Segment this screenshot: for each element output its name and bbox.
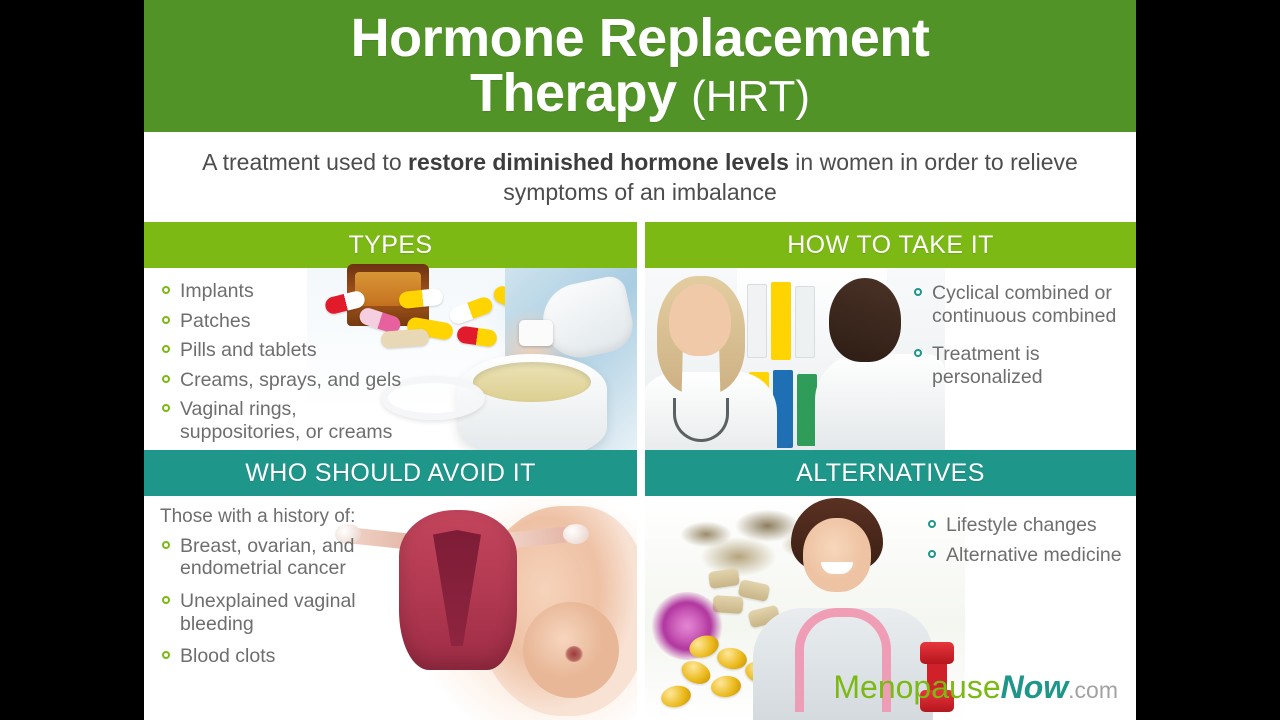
list-item-label: Alternative medicine bbox=[946, 544, 1122, 566]
infographic-content: Hormone Replacement Therapy (HRT) A trea… bbox=[144, 0, 1136, 720]
bullet-ring-icon bbox=[162, 651, 170, 659]
doctor-face-shape bbox=[669, 284, 731, 356]
list-item: Patches bbox=[160, 310, 410, 333]
list-item: Blood clots bbox=[160, 645, 422, 668]
list-item: Lifestyle changes bbox=[926, 514, 1126, 537]
ovary-shape bbox=[563, 524, 589, 544]
site-logo[interactable]: MenopauseNow.com bbox=[833, 669, 1118, 706]
panel-body-how-to-take-it: Cyclical combined or continuous combined… bbox=[645, 268, 1136, 450]
list-how-to-take-it: Cyclical combined or continuous combined… bbox=[912, 282, 1122, 395]
list-item-label: Implants bbox=[180, 280, 254, 302]
list-item: Creams, sprays, and gels bbox=[160, 369, 410, 392]
list-alternatives: Lifestyle changes Alternative medicine bbox=[926, 514, 1126, 573]
list-item: Cyclical combined or continuous combined bbox=[912, 282, 1122, 327]
smile-shape bbox=[821, 562, 853, 574]
title-abbreviation: (HRT) bbox=[691, 72, 810, 121]
panel-heading-how-to-take-it: HOW TO TAKE IT bbox=[645, 222, 1136, 268]
bullet-ring-icon bbox=[162, 596, 170, 604]
fish-oil-capsule-icon bbox=[686, 632, 721, 661]
bullet-ring-icon bbox=[914, 288, 922, 296]
gloved-hand-shape bbox=[536, 274, 637, 365]
list-item-label: Cyclical combined or continuous combined bbox=[932, 282, 1116, 327]
panel-how-to-take-it: HOW TO TAKE IT bbox=[645, 222, 1136, 450]
fish-oil-capsule-icon bbox=[678, 657, 714, 688]
woman-face-shape bbox=[803, 518, 871, 592]
subtitle-emphasis: restore diminished hormone levels bbox=[408, 149, 789, 175]
panel-body-types: Implants Patches Pills and tablets Cream… bbox=[144, 268, 637, 450]
bullet-ring-icon bbox=[928, 520, 936, 528]
breast-shape bbox=[523, 602, 619, 698]
logo-tld: .com bbox=[1068, 677, 1118, 703]
screenshot-stage: Hormone Replacement Therapy (HRT) A trea… bbox=[0, 0, 1280, 720]
panel-types: TYPES bbox=[144, 222, 637, 450]
capsule-icon bbox=[456, 325, 498, 347]
logo-word-menopause: Menopause bbox=[833, 669, 1000, 705]
binder-icon bbox=[747, 284, 767, 358]
page-title: Hormone Replacement Therapy (HRT) bbox=[333, 11, 948, 121]
office-shelf-shape bbox=[737, 268, 887, 450]
list-item: Breast, ovarian, and endometrial cancer bbox=[160, 535, 422, 580]
uterine-cavity-shape bbox=[433, 530, 481, 646]
photo-backdrop bbox=[645, 268, 945, 450]
capsule-icon bbox=[491, 283, 529, 313]
fish-oil-capsule-icon bbox=[715, 646, 748, 672]
list-item: Vaginal rings, suppositories, or creams bbox=[160, 398, 410, 443]
herbal-tablet-icon bbox=[708, 568, 740, 589]
fish-oil-capsule-icon bbox=[659, 683, 693, 710]
fish-oil-capsule-icon bbox=[710, 674, 742, 698]
bullet-ring-icon bbox=[162, 345, 170, 353]
list-item-label: Patches bbox=[180, 310, 250, 332]
title-line-1: Hormone Replacement bbox=[351, 8, 930, 68]
binder-icon bbox=[773, 370, 793, 448]
panel-grid: TYPES bbox=[144, 222, 1136, 720]
bullet-ring-icon bbox=[162, 316, 170, 324]
list-item-label: Treatment is personalized bbox=[932, 343, 1043, 388]
bullet-ring-icon bbox=[162, 541, 170, 549]
list-item-label: Creams, sprays, and gels bbox=[180, 369, 401, 391]
logo-word-now: Now bbox=[1001, 669, 1069, 705]
herbal-tablet-icon bbox=[747, 605, 780, 629]
stethoscope-icon bbox=[673, 398, 729, 442]
blonde-hair-shape bbox=[657, 276, 745, 394]
bullet-ring-icon bbox=[162, 375, 170, 383]
panel-heading-types: TYPES bbox=[144, 222, 637, 268]
lesion-marker-icon bbox=[565, 646, 583, 662]
panel-heading-alternatives: ALTERNATIVES bbox=[645, 450, 1136, 496]
list-item-label: Lifestyle changes bbox=[946, 514, 1097, 536]
bullet-ring-icon bbox=[162, 404, 170, 412]
woman-hair-shape bbox=[791, 498, 883, 570]
list-item-label: Pills and tablets bbox=[180, 339, 317, 361]
list-item-label: Breast, ovarian, and endometrial cancer bbox=[180, 535, 355, 580]
list-item: Unexplained vaginal bleeding bbox=[160, 590, 422, 635]
herbal-tablet-icon bbox=[712, 595, 743, 614]
binder-icon bbox=[795, 286, 815, 358]
title-line-2: Therapy bbox=[470, 63, 677, 123]
title-band: Hormone Replacement Therapy (HRT) bbox=[144, 0, 1136, 132]
list-item: Treatment is personalized bbox=[912, 343, 1122, 388]
list-item-label: Blood clots bbox=[180, 645, 275, 667]
list-item-label: Unexplained vaginal bleeding bbox=[180, 590, 356, 635]
subtitle-band: A treatment used to restore diminished h… bbox=[144, 132, 1136, 222]
bullet-ring-icon bbox=[162, 286, 170, 294]
fish-oil-capsule-icon bbox=[743, 658, 778, 686]
doctor-coat-shape bbox=[645, 372, 777, 450]
list-types: Implants Patches Pills and tablets Cream… bbox=[160, 280, 410, 450]
subtitle-text: A treatment used to restore diminished h… bbox=[200, 147, 1080, 208]
cream-jar-photo bbox=[457, 354, 607, 450]
capsule-icon bbox=[447, 295, 494, 326]
list-item: Pills and tablets bbox=[160, 339, 410, 362]
bullet-ring-icon bbox=[914, 349, 922, 357]
fallopian-tube-shape bbox=[494, 526, 571, 550]
breast-exam-illustration bbox=[477, 506, 637, 716]
list-who-should-avoid-it: Those with a history of: Breast, ovarian… bbox=[160, 506, 422, 675]
bullet-ring-icon bbox=[928, 550, 936, 558]
panel-body-who-should-avoid-it: Those with a history of: Breast, ovarian… bbox=[144, 496, 637, 720]
list-item: Implants bbox=[160, 280, 410, 303]
capsule-icon bbox=[406, 316, 454, 341]
herbal-tablet-icon bbox=[738, 579, 771, 602]
red-clover-flower-shape bbox=[651, 592, 723, 660]
dried-herbs-shape bbox=[663, 500, 843, 586]
list-intro-label: Those with a history of: bbox=[160, 506, 422, 529]
binder-icon bbox=[749, 372, 769, 446]
patch-on-arm-photo bbox=[505, 268, 637, 450]
panel-who-should-avoid-it: WHO SHOULD AVOID IT bbox=[144, 450, 637, 720]
binder-icon bbox=[797, 374, 817, 446]
hormone-patch-icon bbox=[519, 320, 553, 346]
binder-icon bbox=[771, 282, 791, 360]
list-item-label: Vaginal rings, suppositories, or creams bbox=[180, 398, 392, 443]
doctor-and-patient-photo bbox=[645, 268, 945, 450]
patient-head-shape bbox=[829, 278, 901, 362]
list-item: Alternative medicine bbox=[926, 544, 1126, 567]
subtitle-part-1: A treatment used to bbox=[202, 149, 408, 175]
panel-heading-who-should-avoid-it: WHO SHOULD AVOID IT bbox=[144, 450, 637, 496]
